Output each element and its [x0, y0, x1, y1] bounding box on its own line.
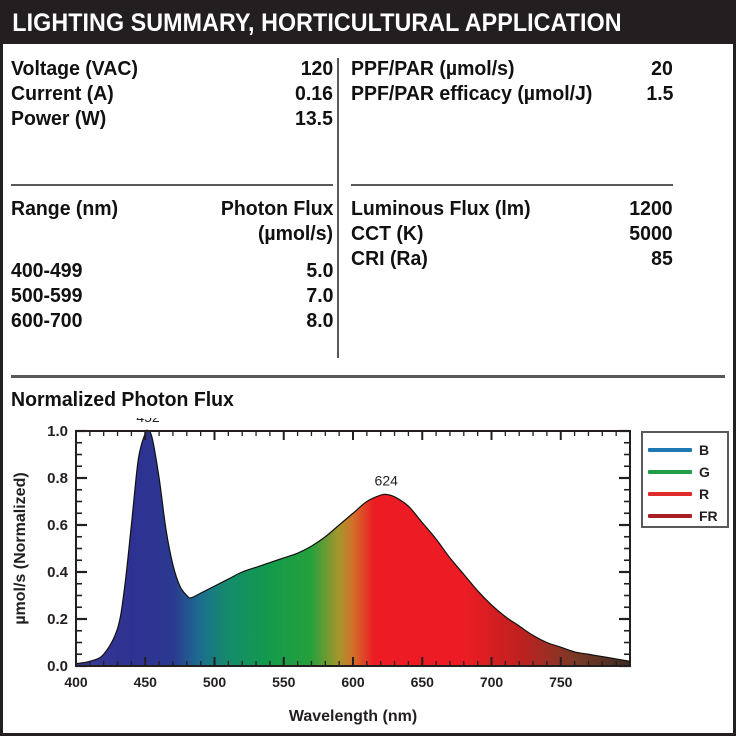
page-title: LIGHTING SUMMARY, HORTICULTURAL APPLICAT…	[3, 9, 622, 38]
x-tick-label: 400	[64, 674, 88, 690]
spectral-bands-block: Range (nm) Photon Flux (µmol/s) 400-499 …	[11, 184, 333, 333]
chart-legend: B G R FR	[641, 431, 729, 528]
column-header-range: Range (nm)	[11, 196, 118, 221]
column-header-photon-flux: Photon Flux	[220, 196, 333, 221]
row-label: Voltage (VAC)	[11, 56, 138, 81]
section-divider	[11, 184, 333, 186]
table-row: PPF/PAR efficacy (µmol/J) 1.5	[351, 81, 673, 106]
table-row: 500-599 7.0	[11, 283, 333, 308]
row-value: 5.0	[306, 258, 333, 283]
y-tick-label: 0.8	[47, 470, 68, 487]
x-axis-label: Wavelength (nm)	[289, 708, 417, 725]
y-tick-label: 1.0	[47, 423, 68, 440]
row-value: 0.16	[295, 81, 333, 106]
legend-label: FR	[699, 508, 718, 524]
table-row: 400-499 5.0	[11, 258, 333, 283]
row-value: 8.0	[306, 308, 333, 333]
table-row: Voltage (VAC) 120	[11, 56, 333, 81]
y-tick-label: 0.4	[47, 564, 69, 581]
legend-label: R	[699, 486, 709, 502]
row-value: 1.5	[646, 81, 673, 106]
row-value: 85	[651, 246, 673, 271]
row-label: PPF/PAR (µmol/s)	[351, 56, 514, 81]
legend-item: R	[648, 483, 722, 504]
row-label: Current (A)	[11, 81, 114, 106]
row-label: 500-599	[11, 283, 82, 308]
table-row: Power (W) 13.5	[11, 106, 333, 131]
y-tick-label: 0.6	[47, 517, 68, 534]
legend-swatch-fr-icon	[648, 514, 692, 518]
x-tick-label: 450	[134, 674, 158, 690]
table-row: 600-700 8.0	[11, 308, 333, 333]
spectrum-fill	[76, 430, 630, 666]
peak-annotation: 624	[375, 472, 399, 488]
spectrum-chart: 4004505005506006507007500.00.20.40.60.81…	[3, 418, 733, 733]
table-row: PPF/PAR (µmol/s) 20	[351, 56, 673, 81]
row-label: 400-499	[11, 258, 82, 283]
x-tick-label: 600	[341, 674, 365, 690]
row-label: Power (W)	[11, 106, 106, 131]
spectrum-chart-svg: 4004505005506006507007500.00.20.40.60.81…	[3, 418, 733, 733]
x-tick-label: 500	[203, 674, 227, 690]
x-tick-label: 700	[480, 674, 504, 690]
legend-swatch-b-icon	[648, 448, 692, 452]
legend-swatch-r-icon	[648, 492, 692, 496]
chart-title: Normalized Photon Flux	[11, 388, 234, 412]
row-label: 600-700	[11, 308, 82, 333]
table-header-row: Range (nm) Photon Flux	[11, 196, 333, 221]
peak-annotation: 452	[136, 418, 160, 425]
row-value: 120	[300, 56, 333, 81]
photometric-block: Luminous Flux (lm) 1200 CCT (K) 5000 CRI…	[351, 184, 673, 271]
row-label: CCT (K)	[351, 221, 423, 246]
row-label: Luminous Flux (lm)	[351, 196, 531, 221]
table-header-units-row: (µmol/s)	[11, 221, 333, 246]
table-row: CRI (Ra) 85	[351, 246, 673, 271]
section-divider	[351, 184, 673, 186]
x-tick-label: 750	[549, 674, 573, 690]
column-header-units: (µmol/s)	[258, 221, 333, 246]
legend-item: B	[648, 439, 722, 460]
header-bar: LIGHTING SUMMARY, HORTICULTURAL APPLICAT…	[3, 3, 733, 44]
chart-section-divider	[11, 375, 725, 378]
legend-item: FR	[648, 505, 722, 526]
lighting-summary-sheet: LIGHTING SUMMARY, HORTICULTURAL APPLICAT…	[0, 0, 736, 736]
par-block: PPF/PAR (µmol/s) 20 PPF/PAR efficacy (µm…	[351, 56, 673, 106]
row-value: 7.0	[306, 283, 333, 308]
row-value: 5000	[630, 221, 673, 246]
row-spacer	[11, 246, 333, 258]
electrical-block: Voltage (VAC) 120 Current (A) 0.16 Power…	[11, 56, 333, 131]
table-row: Current (A) 0.16	[11, 81, 333, 106]
row-value: 13.5	[295, 106, 333, 131]
spec-tables: Voltage (VAC) 120 Current (A) 0.16 Power…	[3, 44, 733, 378]
legend-swatch-g-icon	[648, 470, 692, 474]
legend-label: B	[699, 442, 709, 458]
legend-item: G	[648, 461, 722, 482]
row-label: CRI (Ra)	[351, 246, 428, 271]
x-tick-label: 650	[411, 674, 435, 690]
column-divider	[337, 58, 339, 358]
x-tick-label: 550	[272, 674, 296, 690]
y-tick-label: 0.0	[47, 658, 68, 675]
row-value: 20	[651, 56, 673, 81]
y-tick-label: 0.2	[47, 611, 68, 628]
row-label: PPF/PAR efficacy (µmol/J)	[351, 81, 592, 106]
y-axis-label: µmol/s (Normalized)	[12, 472, 29, 624]
legend-label: G	[699, 464, 710, 480]
row-value: 1200	[630, 196, 673, 221]
table-row: CCT (K) 5000	[351, 221, 673, 246]
table-row: Luminous Flux (lm) 1200	[351, 196, 673, 221]
